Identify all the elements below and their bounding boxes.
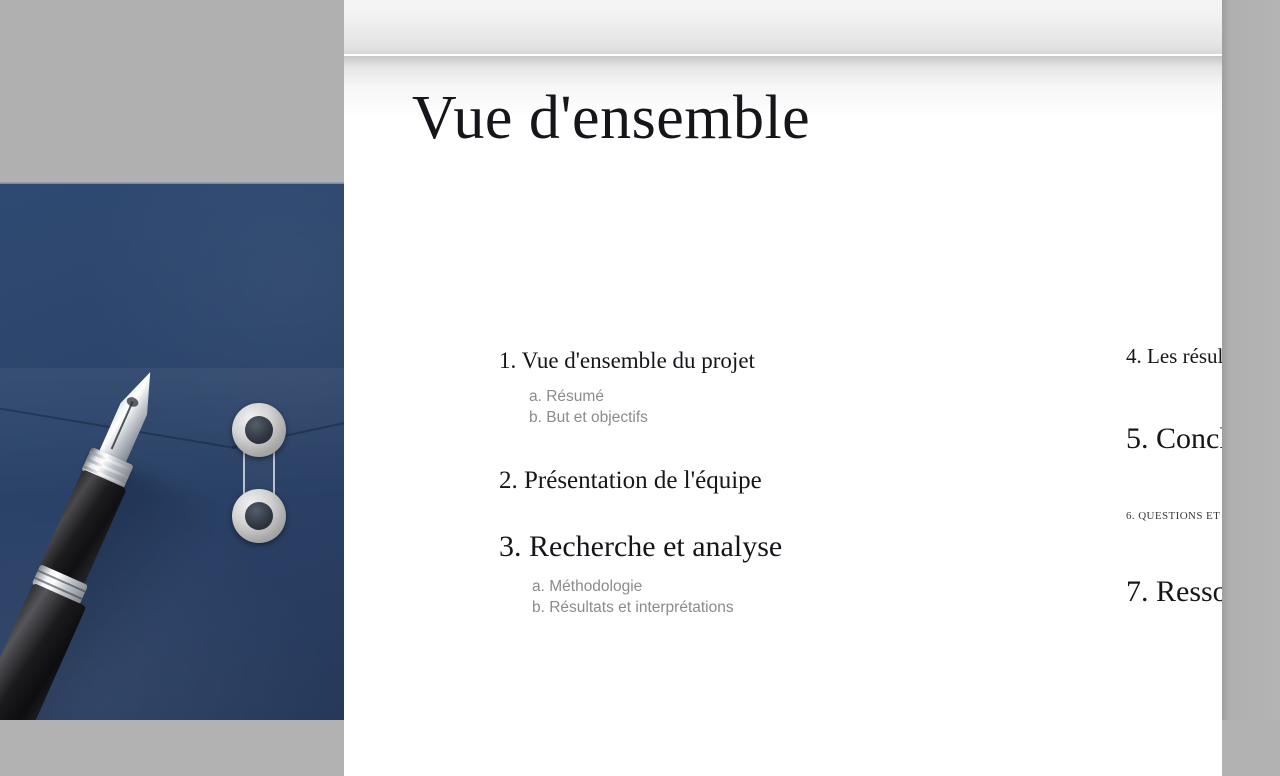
- toc-column-right: 4. Les résultats 5. Conclusion 6. QUESTI…: [611, 280, 878, 680]
- slide-title[interactable]: Vue d'ensemble: [344, 84, 878, 152]
- slide-content: Vue d'ensemble 1. Vue d'ensemble du proj…: [344, 0, 878, 720]
- image-gray-band: [0, 0, 344, 184]
- editor-canvas: Vue d'ensemble 1. Vue d'ensemble du proj…: [0, 0, 1280, 720]
- table-of-contents: 1. Vue d'ensemble du projet a. Résumé b.…: [344, 280, 878, 680]
- toc-column-left: 1. Vue d'ensemble du projet a. Résumé b.…: [344, 280, 611, 680]
- slide-image-fountain-pen[interactable]: [0, 0, 344, 720]
- canvas-right-gutter: [1222, 0, 1280, 720]
